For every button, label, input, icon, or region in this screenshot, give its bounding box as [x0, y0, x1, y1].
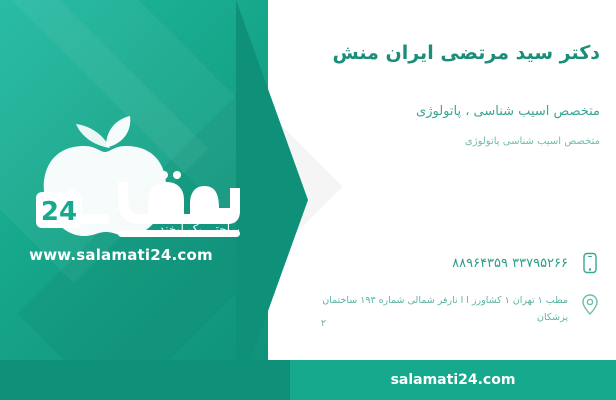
phone-number: ۳۳۷۹۵۲۶۶ ۸۸۹۶۴۳۵۹ — [302, 256, 568, 271]
specialty-secondary: متخصص اسیب شناسی پاتولوژی — [300, 136, 600, 147]
phone-row: ۳۳۷۹۵۲۶۶ ۸۸۹۶۴۳۵۹ — [302, 250, 602, 276]
address-text: مطب ۱ تهران ۱ کشاورز ا ا نارفر شمالی شما… — [302, 292, 568, 326]
phone-icon — [578, 250, 602, 276]
business-card: 24 براحتی یک لبخند www.salamati24.com دک… — [0, 0, 616, 400]
footer-site: salamati24.com — [391, 372, 516, 388]
address-row: مطب ۱ تهران ۱ کشاورز ا ا نارفر شمالی شما… — [302, 292, 602, 326]
brand-url: www.salamati24.com — [16, 246, 226, 264]
brand-number: 24 — [41, 197, 77, 227]
address-line2: ۲ — [321, 318, 326, 329]
footer-bar: salamati24.com — [290, 360, 616, 400]
doctor-name: دکتر سید مرتضی ایران منش — [300, 42, 600, 64]
specialty-primary: متخصص اسیب شناسی ، پاتولوژی — [300, 104, 600, 119]
details-panel: دکتر سید مرتضی ایران منش متخصص اسیب شناس… — [290, 0, 616, 400]
map-pin-icon — [578, 292, 602, 318]
brand-logo: 24 — [14, 96, 254, 266]
brand-number-badge: 24 — [36, 192, 82, 228]
panel-bottom-strip — [0, 360, 290, 400]
brand-slogan: براحتی یک لبخند — [120, 222, 240, 236]
